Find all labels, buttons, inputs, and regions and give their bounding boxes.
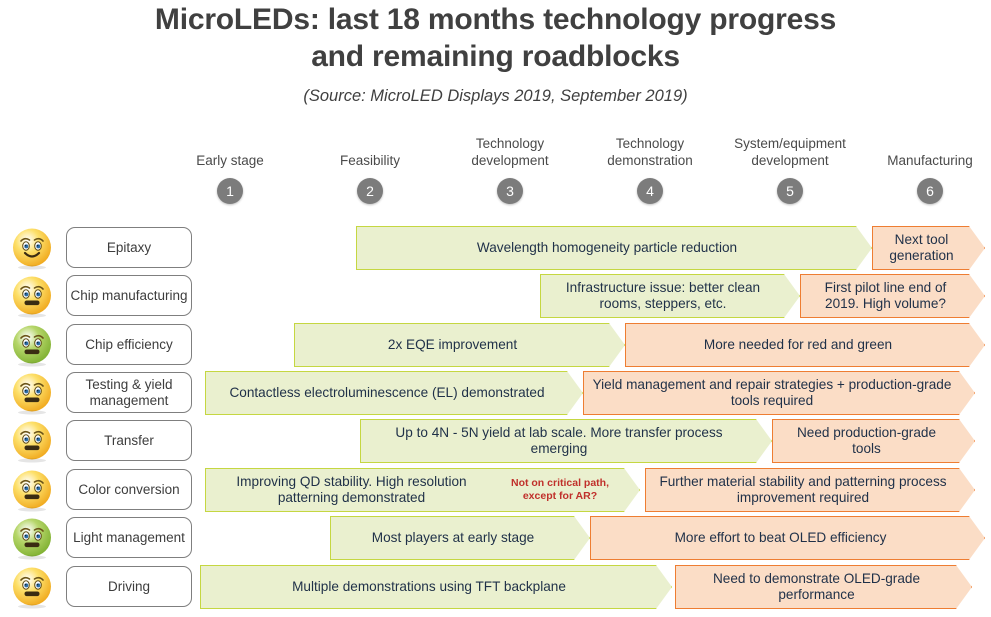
stage-label: Manufacturing	[860, 136, 991, 170]
roadblock-arrow-orange-text: Need production-grade tools	[773, 425, 974, 458]
stage-label: Technology development	[440, 136, 580, 170]
roadblock-arrow-orange-text: Further material stability and patternin…	[646, 474, 974, 507]
roadmap-row: Light managementMost players at early st…	[0, 515, 991, 561]
roadblock-arrow-orange[interactable]: Need to demonstrate OLED-grade performan…	[675, 565, 972, 609]
roadmap-row: EpitaxyWavelength homogeneity particle r…	[0, 225, 991, 271]
roadmap-row: Chip efficiency2x EQE improvementMore ne…	[0, 322, 991, 368]
stage-number-badge: 1	[217, 178, 243, 204]
stage-number-badge: 6	[917, 178, 943, 204]
roadblock-arrow-orange-text: More needed for red and green	[626, 337, 984, 353]
row-label-color-conversion[interactable]: Color conversion	[66, 469, 192, 510]
title-block: MicroLEDs: last 18 months technology pro…	[0, 2, 991, 106]
row-label-transfer[interactable]: Transfer	[66, 420, 192, 461]
row-label-epitaxy[interactable]: Epitaxy	[66, 227, 192, 268]
progress-arrow-green-text: Multiple demonstrations using TFT backpl…	[201, 579, 671, 595]
stage-column-4: Technology demonstration4	[580, 136, 720, 204]
stage-label-text: System/equipment development	[720, 136, 860, 170]
smiley-yellow-neutral-icon	[10, 468, 54, 512]
roadblock-arrow-orange-text: Yield management and repair strategies +…	[584, 377, 974, 410]
stage-label: Early stage	[160, 136, 300, 170]
stage-label-text: Technology demonstration	[580, 136, 720, 170]
smiley-yellow-neutral-icon	[10, 419, 54, 463]
roadblock-arrow-orange[interactable]: First pilot line end of 2019. High volum…	[800, 274, 985, 318]
stage-label-text: Feasibility	[300, 153, 440, 170]
roadmap-row: TransferUp to 4N - 5N yield at lab scale…	[0, 418, 991, 464]
stage-number-badge: 2	[357, 178, 383, 204]
roadblock-arrow-orange-text: Next tool generation	[873, 232, 984, 265]
stage-label: System/equipment development	[720, 136, 860, 170]
stage-label-text: Technology development	[440, 136, 580, 170]
progress-arrow-green[interactable]: 2x EQE improvement	[294, 323, 625, 367]
page-title-line2: and remaining roadblocks	[86, 39, 906, 76]
roadmap-row: Color conversionImproving QD stability. …	[0, 467, 991, 513]
progress-arrow-green[interactable]: Multiple demonstrations using TFT backpl…	[200, 565, 672, 609]
roadblock-arrow-orange[interactable]: Yield management and repair strategies +…	[583, 371, 975, 415]
row-label-light-management[interactable]: Light management	[66, 517, 192, 558]
stage-column-6: Manufacturing6	[860, 136, 991, 204]
progress-arrow-green[interactable]: Improving QD stability. High resolution …	[205, 468, 640, 512]
roadblock-arrow-orange[interactable]: More effort to beat OLED efficiency	[590, 516, 985, 560]
roadmap-row: DrivingMultiple demonstrations using TFT…	[0, 564, 991, 610]
progress-arrow-green-text: Infrastructure issue: better clean rooms…	[541, 280, 799, 313]
progress-arrow-green-text: Contactless electroluminescence (EL) dem…	[206, 385, 582, 401]
roadblock-arrow-orange-text: More effort to beat OLED efficiency	[591, 530, 984, 546]
progress-arrow-green[interactable]: Most players at early stage	[330, 516, 590, 560]
page-subtitle: (Source: MicroLED Displays 2019, Septemb…	[0, 87, 991, 106]
roadblock-arrow-orange-text: First pilot line end of 2019. High volum…	[801, 280, 984, 313]
roadblock-arrow-orange[interactable]: Next tool generation	[872, 226, 985, 270]
row-label-chip-manufacturing[interactable]: Chip manufacturing	[66, 275, 192, 316]
stage-label: Technology demonstration	[580, 136, 720, 170]
page-title: MicroLEDs: last 18 months technology pro…	[86, 2, 906, 75]
smiley-yellow-neutral-icon	[10, 371, 54, 415]
progress-arrow-green-text: Most players at early stage	[331, 530, 589, 546]
progress-arrow-green-text: 2x EQE improvement	[295, 337, 624, 353]
critical-path-note: Not on critical path, except for AR?	[511, 477, 609, 503]
row-label-testing-yield-management[interactable]: Testing & yield management	[66, 372, 192, 413]
stage-label: Feasibility	[300, 136, 440, 170]
stage-label-text: Manufacturing	[860, 153, 991, 170]
stage-column-2: Feasibility2	[300, 136, 440, 204]
row-label-driving[interactable]: Driving	[66, 566, 192, 607]
smiley-yellow-happy-icon	[10, 226, 54, 270]
stage-number-badge: 5	[777, 178, 803, 204]
stage-column-5: System/equipment development5	[720, 136, 860, 204]
roadmap-row: Testing & yield managementContactless el…	[0, 370, 991, 416]
progress-arrow-green[interactable]: Contactless electroluminescence (EL) dem…	[205, 371, 583, 415]
progress-arrow-green[interactable]: Infrastructure issue: better clean rooms…	[540, 274, 800, 318]
stage-number-badge: 4	[637, 178, 663, 204]
smiley-green-neutral-icon	[10, 516, 54, 560]
roadblock-arrow-orange[interactable]: Further material stability and patternin…	[645, 468, 975, 512]
smiley-yellow-neutral-icon	[10, 565, 54, 609]
stage-column-1: Early stage1	[160, 136, 300, 204]
roadblock-arrow-orange[interactable]: More needed for red and green	[625, 323, 985, 367]
roadmap-row: Chip manufacturingInfrastructure issue: …	[0, 273, 991, 319]
roadblock-arrow-orange-text: Need to demonstrate OLED-grade performan…	[676, 571, 971, 604]
smiley-yellow-neutral-icon	[10, 274, 54, 318]
page-title-line1: MicroLEDs: last 18 months technology pro…	[86, 2, 906, 39]
progress-arrow-green-text: Wavelength homogeneity particle reductio…	[357, 240, 871, 256]
smiley-green-neutral-icon	[10, 323, 54, 367]
progress-arrow-green-text: Up to 4N - 5N yield at lab scale. More t…	[361, 425, 771, 458]
roadblock-arrow-orange[interactable]: Need production-grade tools	[772, 419, 975, 463]
progress-arrow-green[interactable]: Wavelength homogeneity particle reductio…	[356, 226, 872, 270]
progress-arrow-green[interactable]: Up to 4N - 5N yield at lab scale. More t…	[360, 419, 772, 463]
stage-column-3: Technology development3	[440, 136, 580, 204]
stage-label-text: Early stage	[160, 153, 300, 170]
row-label-chip-efficiency[interactable]: Chip efficiency	[66, 324, 192, 365]
stage-number-badge: 3	[497, 178, 523, 204]
